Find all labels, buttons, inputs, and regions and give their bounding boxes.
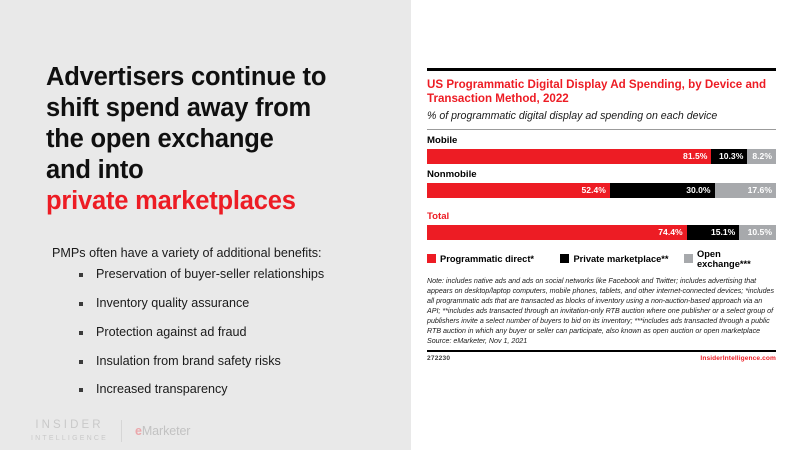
bar-segment-open-exchange: 17.6% bbox=[715, 183, 776, 198]
bullet-square-icon bbox=[79, 273, 83, 277]
list-item-label: Protection against ad fraud bbox=[96, 325, 247, 339]
legend-label: Programmatic direct* bbox=[440, 254, 534, 264]
bullet-square-icon bbox=[79, 331, 83, 335]
headline-line-3: the open exchange bbox=[46, 125, 274, 153]
bar-segment-private-marketplace: 10.3% bbox=[711, 149, 747, 164]
legend-item-private-marketplace: Private marketplace** bbox=[560, 254, 684, 264]
bar-category-label: Total bbox=[427, 211, 776, 222]
headline-line-4: and into bbox=[46, 156, 144, 184]
legend-swatch-icon bbox=[427, 254, 436, 263]
chart-id: 272230 bbox=[427, 355, 450, 362]
list-item-label: Insulation from brand safety risks bbox=[96, 354, 281, 368]
left-content-panel: Advertisers continue to shift spend away… bbox=[0, 0, 411, 450]
legend-swatch-icon bbox=[560, 254, 569, 263]
table-row: 74.4% 15.1% 10.5% bbox=[427, 225, 776, 240]
chart-header-divider bbox=[427, 129, 776, 130]
bar-segment-programmatic-direct: 81.5% bbox=[427, 149, 711, 164]
list-item: Preservation of buyer-seller relationshi… bbox=[74, 268, 394, 282]
chart-footer: 272230 InsiderIntelligence.com bbox=[427, 355, 776, 362]
slide: Advertisers continue to shift spend away… bbox=[0, 0, 800, 450]
list-item: Insulation from brand safety risks bbox=[74, 355, 394, 369]
bar-segment-programmatic-direct: 52.4% bbox=[427, 183, 610, 198]
legend-item-open-exchange: Open exchange*** bbox=[684, 249, 776, 269]
bar-segment-private-marketplace: 15.1% bbox=[687, 225, 740, 240]
chart-bottom-rule bbox=[427, 350, 776, 352]
list-item-label: Inventory quality assurance bbox=[96, 296, 249, 310]
legend-item-programmatic-direct: Programmatic direct* bbox=[427, 254, 560, 264]
bar-category-label: Mobile bbox=[427, 135, 776, 146]
chart-legend: Programmatic direct* Private marketplace… bbox=[427, 249, 776, 269]
list-item: Increased transparency bbox=[74, 383, 394, 397]
spacer bbox=[427, 198, 776, 206]
bar-category-label: Nonmobile bbox=[427, 169, 776, 180]
emarketer-logo-text: Marketer bbox=[142, 424, 191, 438]
legend-swatch-icon bbox=[684, 254, 693, 263]
bar-segment-private-marketplace: 30.0% bbox=[610, 183, 715, 198]
list-item-label: Preservation of buyer-seller relationshi… bbox=[96, 267, 324, 281]
bullet-square-icon bbox=[79, 388, 83, 392]
bar-group-mobile: Mobile 81.5% 10.3% 8.2% bbox=[427, 135, 776, 164]
brand-footer: INSIDER INTELLIGENCE eMarketer bbox=[31, 420, 190, 442]
list-item: Inventory quality assurance bbox=[74, 297, 394, 311]
chart-website-link[interactable]: InsiderIntelligence.com bbox=[700, 355, 776, 362]
chart-container: US Programmatic Digital Display Ad Spend… bbox=[427, 68, 776, 362]
chart-subtitle: % of programmatic digital display ad spe… bbox=[427, 110, 776, 123]
legend-label: Open exchange*** bbox=[697, 249, 776, 269]
chart-title: US Programmatic Digital Display Ad Spend… bbox=[427, 78, 776, 107]
insider-logo-bottom: INTELLIGENCE bbox=[31, 435, 108, 442]
bullet-square-icon bbox=[79, 360, 83, 364]
bar-segment-open-exchange: 10.5% bbox=[739, 225, 776, 240]
chart-source: Source: eMarketer, Nov 1, 2021 bbox=[427, 336, 776, 346]
bar-segment-open-exchange: 8.2% bbox=[747, 149, 776, 164]
chart-note: Note: includes native ads and ads on soc… bbox=[427, 276, 776, 336]
list-item-label: Increased transparency bbox=[96, 382, 228, 396]
table-row: 52.4% 30.0% 17.6% bbox=[427, 183, 776, 198]
headline-line-1: Advertisers continue to bbox=[46, 63, 326, 91]
table-row: 81.5% 10.3% 8.2% bbox=[427, 149, 776, 164]
insider-logo-top: INSIDER bbox=[35, 420, 103, 432]
legend-label: Private marketplace** bbox=[573, 254, 668, 264]
benefits-list: Preservation of buyer-seller relationshi… bbox=[74, 268, 394, 397]
logo-divider bbox=[121, 420, 122, 442]
bar-group-total: Total 74.4% 15.1% 10.5% bbox=[427, 211, 776, 240]
headline-line-2: shift spend away from bbox=[46, 94, 311, 122]
bar-segment-programmatic-direct: 74.4% bbox=[427, 225, 687, 240]
list-item: Protection against ad fraud bbox=[74, 326, 394, 340]
page-title: Advertisers continue to shift spend away… bbox=[46, 62, 386, 218]
bullet-square-icon bbox=[79, 302, 83, 306]
emarketer-logo-e: e bbox=[135, 424, 142, 438]
headline-highlight: private marketplaces bbox=[46, 186, 386, 217]
chart-top-rule bbox=[427, 68, 776, 71]
chart-card: US Programmatic Digital Display Ad Spend… bbox=[411, 0, 800, 450]
insider-intelligence-logo: INSIDER INTELLIGENCE bbox=[31, 420, 108, 442]
emarketer-logo: eMarketer bbox=[135, 424, 190, 438]
benefits-intro: PMPs often have a variety of additional … bbox=[52, 246, 382, 260]
bar-group-nonmobile: Nonmobile 52.4% 30.0% 17.6% bbox=[427, 169, 776, 198]
